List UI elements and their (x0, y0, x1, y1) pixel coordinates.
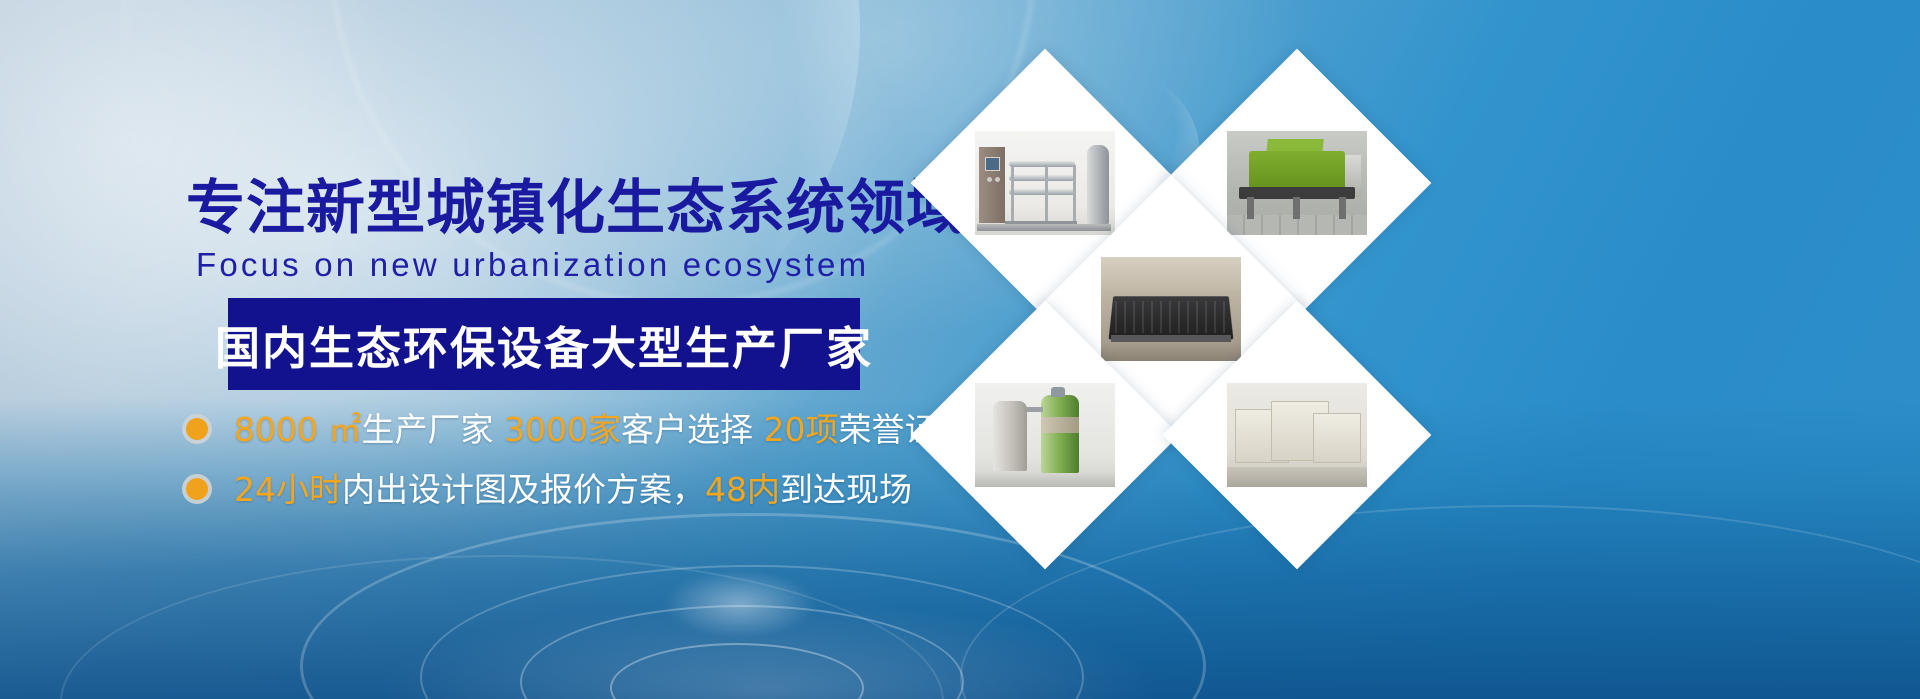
bullet-1-segment-1: 8000 ㎡ (234, 410, 361, 449)
hero-banner: 专注新型城镇化生态系统领域 Focus on new urbanization … (0, 0, 1920, 699)
banner-bullet-row-1: 8000 ㎡生产厂家 3000家客户选择 20项荣誉证书 (186, 405, 970, 453)
aac-block-stack-photo (1227, 383, 1367, 487)
bullet-2-segment-4: 到达现场 (780, 470, 912, 509)
banner-ribbon-text: 国内生态环保设备大型生产厂家 (215, 312, 873, 377)
tile-photo-frame (1202, 340, 1392, 530)
tile-photo-frame (950, 340, 1140, 530)
bullet-1-segment-2: 生产厂家 (361, 410, 504, 449)
banner-copy-block: 专注新型城镇化生态系统领域 Focus on new urbanization … (0, 0, 920, 699)
banner-bullet-text-2: 24小时内出设计图及报价方案，48内到达现场 (234, 473, 912, 506)
banner-subheadline: Focus on new urbanization ecosystem (196, 248, 869, 281)
banner-ribbon: 国内生态环保设备大型生产厂家 (228, 298, 860, 390)
bullet-1-segment-4: 客户选择 (621, 410, 764, 449)
bullet-2-segment-1: 24小时 (234, 470, 342, 509)
banner-bullet-row-2: 24小时内出设计图及报价方案，48内到达现场 (186, 465, 970, 513)
banner-bullet-list: 8000 ㎡生产厂家 3000家客户选择 20项荣誉证书 24小时内出设计图及报… (186, 405, 970, 525)
water-treatment-skid-photo (975, 131, 1115, 235)
bullet-1-segment-5: 20项 (763, 410, 838, 449)
cylindrical-tanks-photo (975, 383, 1115, 487)
bullet-2-segment-2: 内出设计图及报价方案， (342, 470, 705, 509)
bullet-2-segment-3: 48内 (705, 470, 780, 509)
banner-headline: 专注新型城镇化生态系统领域 (186, 178, 966, 237)
bullet-1-segment-3: 3000家 (504, 410, 621, 449)
black-filter-plate-photo (1101, 257, 1241, 361)
product-diamond-gallery (905, 38, 1920, 668)
orange-dot-icon (186, 478, 208, 500)
orange-dot-icon (186, 418, 208, 440)
green-block-machine-photo (1227, 131, 1367, 235)
banner-bullet-text-1: 8000 ㎡生产厂家 3000家客户选择 20项荣誉证书 (234, 413, 970, 446)
